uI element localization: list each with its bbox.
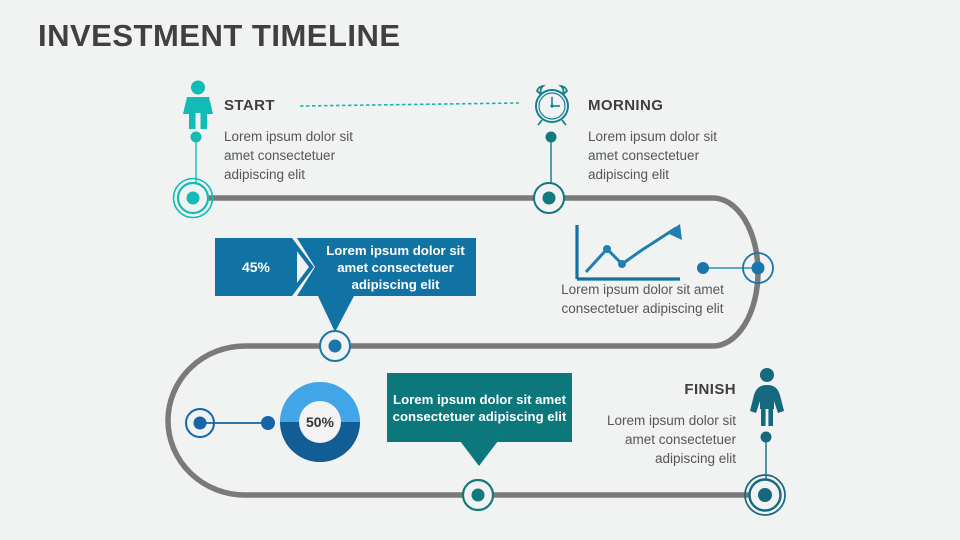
timeline-node-layer — [0, 0, 960, 540]
timeline-node-start[interactable] — [174, 179, 213, 218]
timeline-node-finish[interactable] — [745, 475, 785, 515]
timeline-node-morning[interactable] — [534, 183, 564, 213]
timeline-node-chevron[interactable] — [320, 331, 350, 361]
timeline-node-teal[interactable] — [463, 480, 493, 510]
slide-canvas: INVESTMENT TIMELINE — [0, 0, 960, 540]
timeline-node-donut[interactable] — [186, 409, 214, 437]
timeline-node-growth[interactable] — [743, 253, 773, 283]
